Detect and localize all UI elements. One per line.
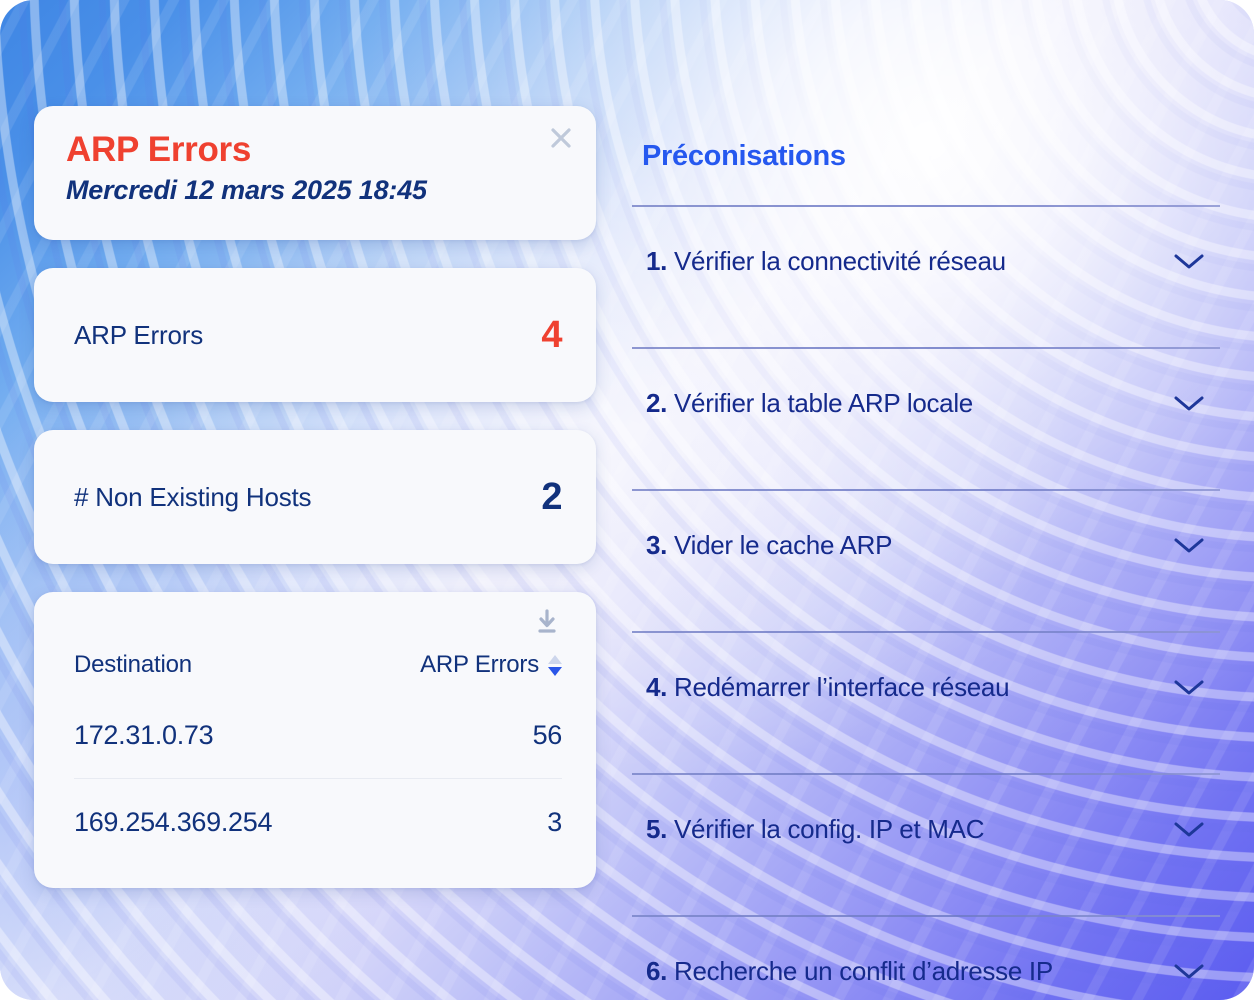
accordion-item-text: Vérifier la config. IP et MAC [674,814,984,844]
left-column: ARP Errors Mercredi 12 mars 2025 18:45 A… [34,106,596,888]
accordion-item-number: 2. [646,388,674,418]
metric-label: # Non Existing Hosts [74,482,311,513]
accordion-item-number: 6. [646,956,674,986]
app-frame: ARP Errors Mercredi 12 mars 2025 18:45 A… [0,0,1254,1000]
accordion-item-label: 3. Vider le cache ARP [646,530,892,561]
accordion-divider [632,347,1220,349]
cell-destination: 172.31.0.73 [74,720,213,751]
accordion-divider [632,915,1220,917]
destination-table-card: Destination ARP Errors 172.31.0.73 56 [34,592,596,888]
table-header-row: Destination ARP Errors [74,638,562,692]
accordion-item-2[interactable]: 2. Vérifier la table ARP locale [632,349,1220,457]
metric-card-non-existing-hosts: # Non Existing Hosts 2 [34,430,596,564]
sort-toggle-icon[interactable] [548,655,562,676]
chevron-down-icon[interactable] [1172,677,1206,697]
accordion-item-6[interactable]: 6. Recherche un conflit d’adresse IP [632,917,1220,1000]
accordion-item-label: 4. Redémarrer l’interface réseau [646,672,1009,703]
accordion-item-label: 6. Recherche un conflit d’adresse IP [646,956,1053,987]
chevron-down-icon[interactable] [1172,819,1206,839]
metric-value: 4 [541,314,562,357]
accordion-item-number: 1. [646,246,674,276]
cell-arp-errors: 56 [533,720,562,751]
accordion-item-text: Vider le cache ARP [674,530,892,560]
accordion-item-label: 2. Vérifier la table ARP locale [646,388,973,419]
page-title: ARP Errors [66,132,566,169]
alert-header-card: ARP Errors Mercredi 12 mars 2025 18:45 [34,106,596,240]
recommendations-panel: Préconisations 1. Vérifier la connectivi… [632,140,1220,1000]
accordion-item-number: 3. [646,530,674,560]
metric-value: 2 [541,476,562,519]
accordion-item-4[interactable]: 4. Redémarrer l’interface réseau [632,633,1220,741]
table-toolbar [74,592,562,638]
recommendations-title: Préconisations [632,140,1220,173]
accordion-divider [632,205,1220,207]
chevron-down-icon[interactable] [1172,251,1206,271]
accordion-item-1[interactable]: 1. Vérifier la connectivité réseau [632,207,1220,315]
accordion-item-3[interactable]: 3. Vider le cache ARP [632,491,1220,599]
download-icon[interactable] [532,608,562,636]
accordion-item-text: Recherche un conflit d’adresse IP [674,956,1053,986]
accordion-item-5[interactable]: 5. Vérifier la config. IP et MAC [632,775,1220,883]
accordion-item-label: 1. Vérifier la connectivité réseau [646,246,1006,277]
column-header-destination[interactable]: Destination [74,651,192,679]
cell-destination: 169.254.369.254 [74,807,272,838]
accordion-item-label: 5. Vérifier la config. IP et MAC [646,814,984,845]
metric-label: ARP Errors [74,320,203,351]
cell-arp-errors: 3 [547,807,562,838]
table-row[interactable]: 169.254.369.254 3 [74,779,562,865]
accordion-item-text: Vérifier la table ARP locale [674,388,973,418]
column-header-label: ARP Errors [420,651,539,679]
accordion-divider [632,773,1220,775]
chevron-down-icon[interactable] [1172,393,1206,413]
chevron-down-icon[interactable] [1172,961,1206,981]
content-area: ARP Errors Mercredi 12 mars 2025 18:45 A… [0,0,1254,1000]
accordion-divider [632,631,1220,633]
accordion-item-text: Redémarrer l’interface réseau [674,672,1009,702]
column-header-arp-errors[interactable]: ARP Errors [420,651,562,679]
sort-descending-icon [548,667,562,676]
accordion-item-text: Vérifier la connectivité réseau [674,246,1006,276]
close-icon[interactable] [546,123,576,153]
accordion-item-number: 4. [646,672,674,702]
chevron-down-icon[interactable] [1172,535,1206,555]
accordion-divider [632,489,1220,491]
table-row[interactable]: 172.31.0.73 56 [74,692,562,778]
accordion-item-number: 5. [646,814,674,844]
alert-timestamp: Mercredi 12 mars 2025 18:45 [66,175,566,206]
sort-ascending-icon [548,655,562,664]
metric-card-arp-errors: ARP Errors 4 [34,268,596,402]
